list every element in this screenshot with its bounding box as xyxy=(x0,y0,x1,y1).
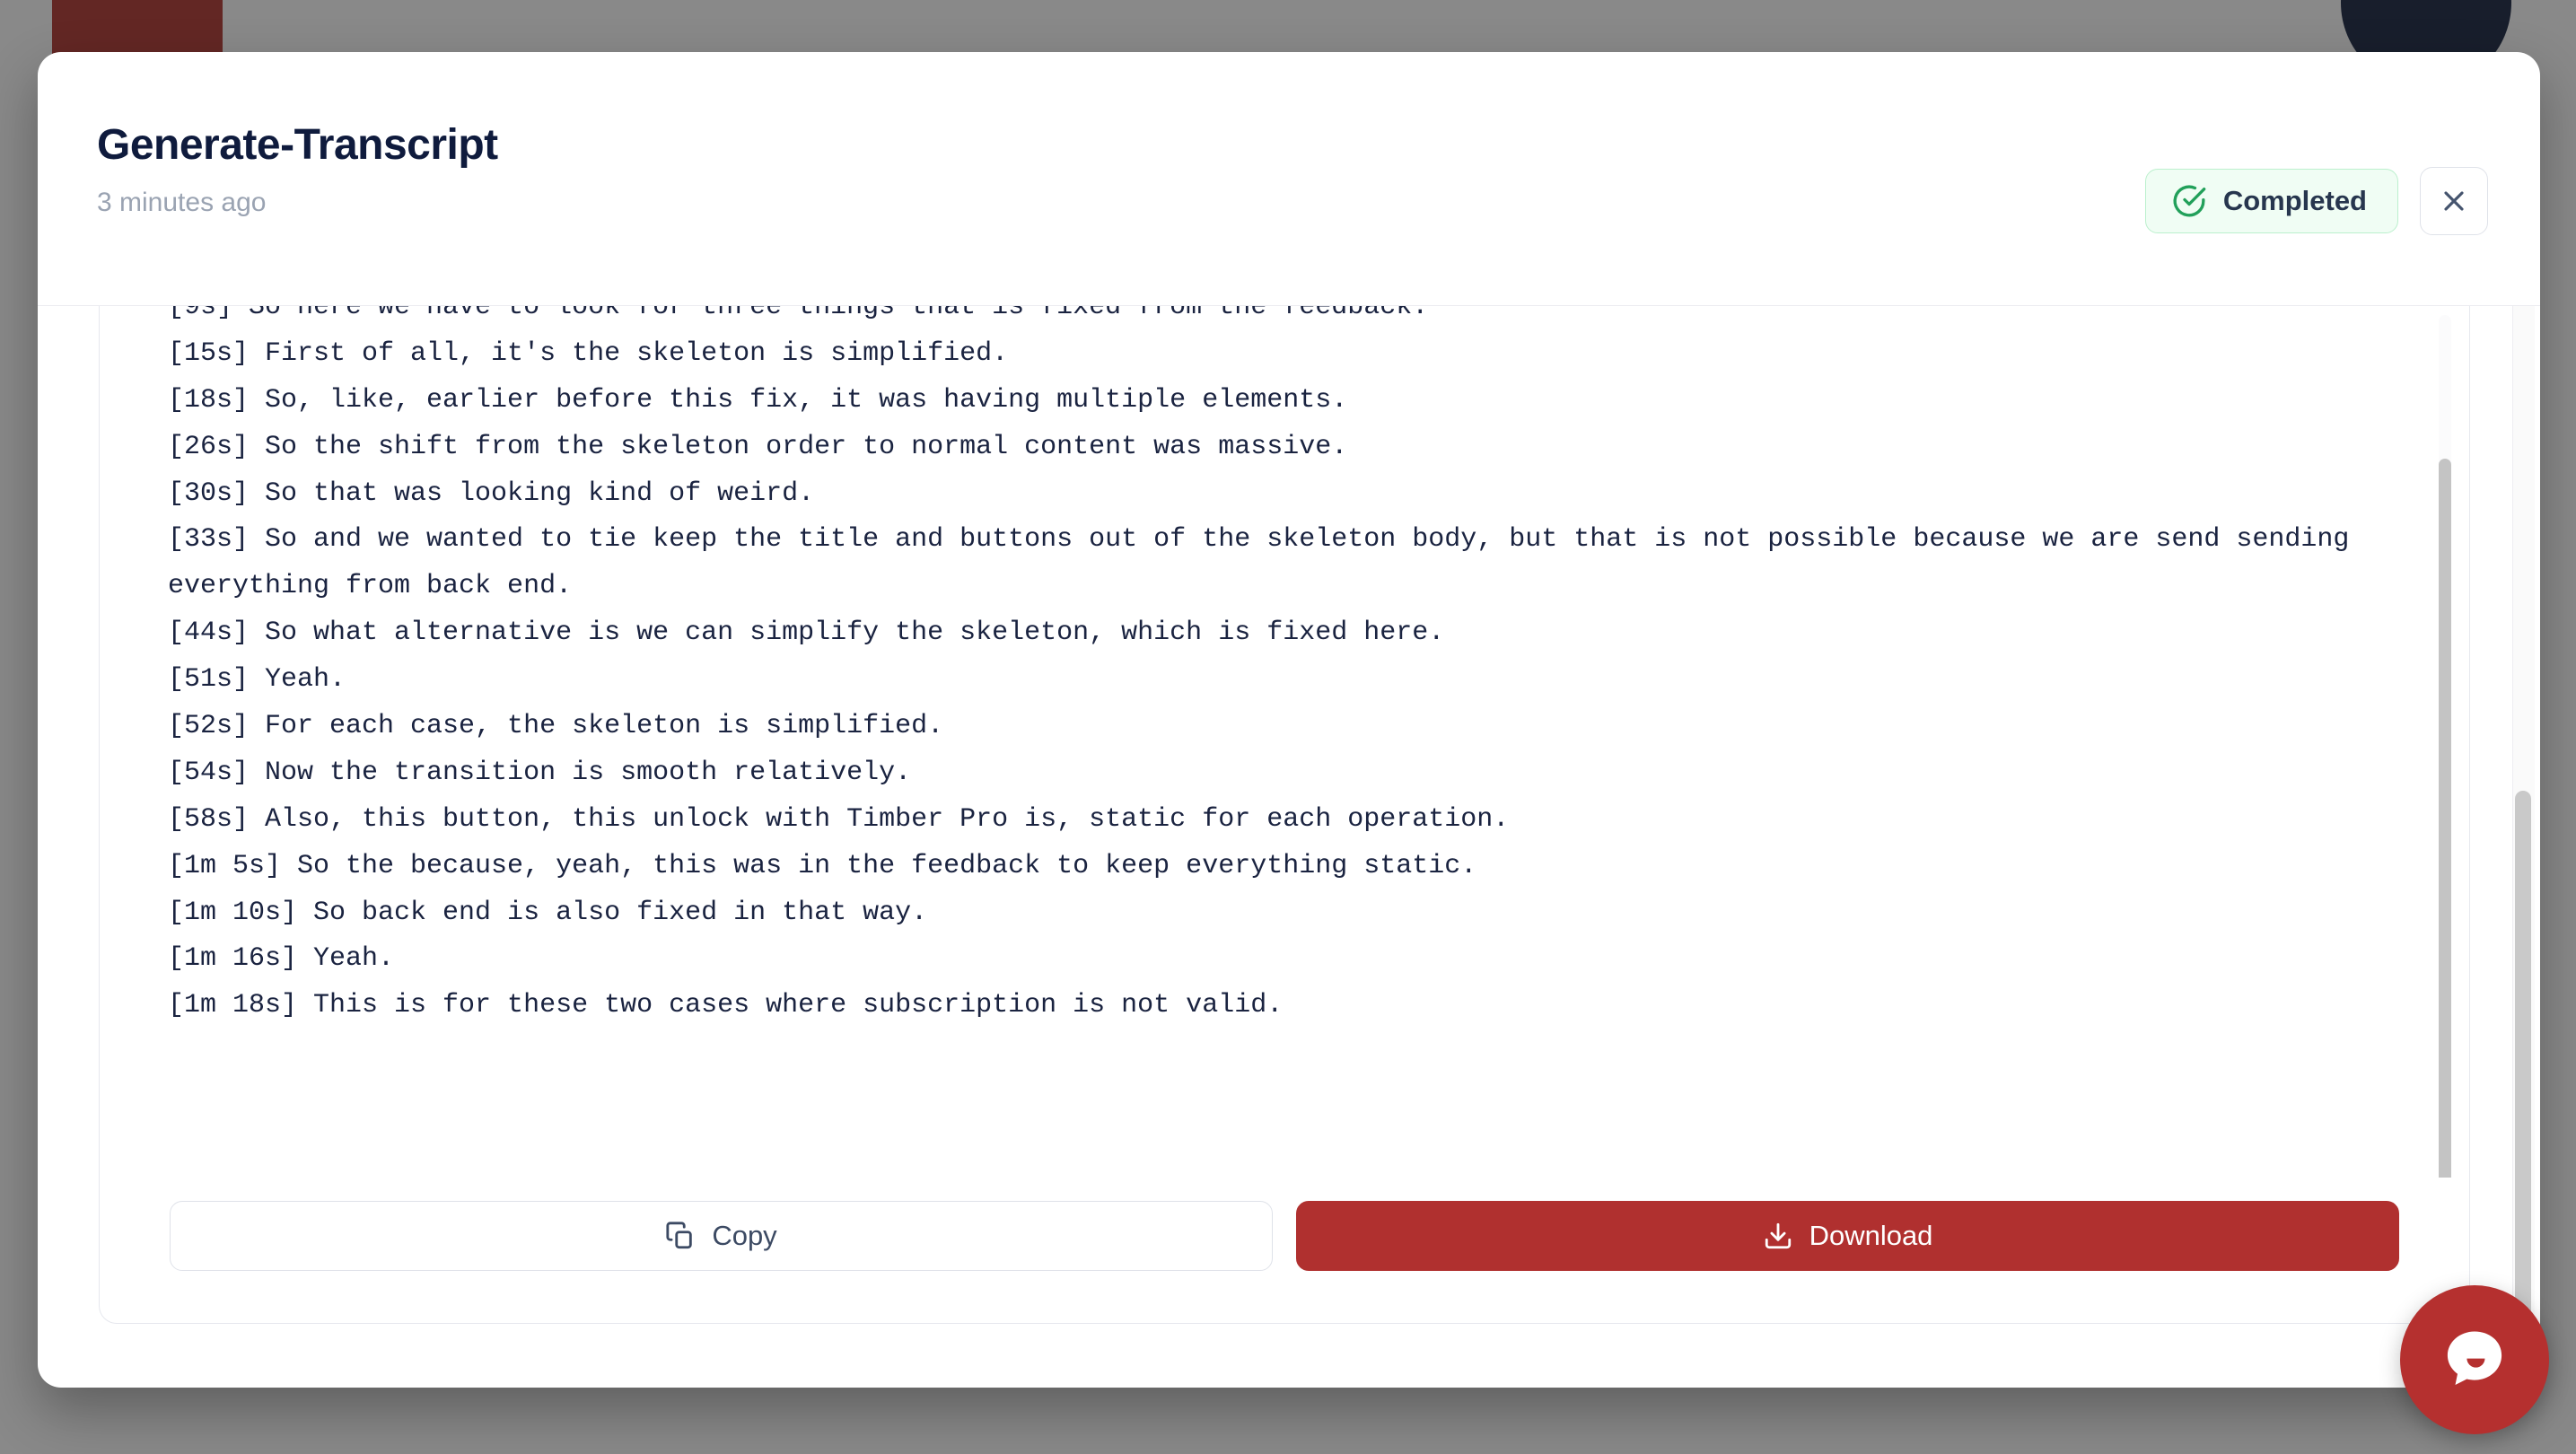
transcript-actions: Copy Download xyxy=(100,1178,2469,1323)
modal-header: Generate-Transcript 3 minutes ago Comple… xyxy=(38,52,2540,305)
transcript-text: [9s] So here we have to look for three t… xyxy=(168,306,2397,1029)
status-badge-label: Completed xyxy=(2223,185,2367,217)
close-button[interactable] xyxy=(2420,167,2488,235)
modal-header-text: Generate-Transcript 3 minutes ago xyxy=(97,122,498,217)
chat-launcher-button[interactable] xyxy=(2400,1285,2549,1434)
page-title: Generate-Transcript xyxy=(97,122,498,170)
status-badge: Completed xyxy=(2145,169,2398,233)
download-button-label: Download xyxy=(1809,1220,1933,1252)
transcript-card: [9s] So here we have to look for three t… xyxy=(99,306,2470,1324)
download-button[interactable]: Download xyxy=(1296,1201,2399,1271)
copy-icon xyxy=(665,1221,696,1251)
chat-bubble-icon xyxy=(2436,1321,2513,1398)
close-icon xyxy=(2438,185,2470,217)
transcript-scrollbar-thumb[interactable] xyxy=(2439,459,2451,1178)
copy-button[interactable]: Copy xyxy=(170,1201,1273,1271)
transcript-scroll-region[interactable]: [9s] So here we have to look for three t… xyxy=(100,306,2469,1178)
modal-header-actions: Completed xyxy=(2145,167,2488,235)
copy-button-label: Copy xyxy=(712,1220,776,1252)
check-circle-icon xyxy=(2171,183,2207,219)
generate-transcript-modal: Generate-Transcript 3 minutes ago Comple… xyxy=(38,52,2540,1388)
modal-body: [9s] So here we have to look for three t… xyxy=(38,306,2540,1388)
modal-timestamp: 3 minutes ago xyxy=(97,188,498,217)
download-icon xyxy=(1763,1221,1793,1251)
